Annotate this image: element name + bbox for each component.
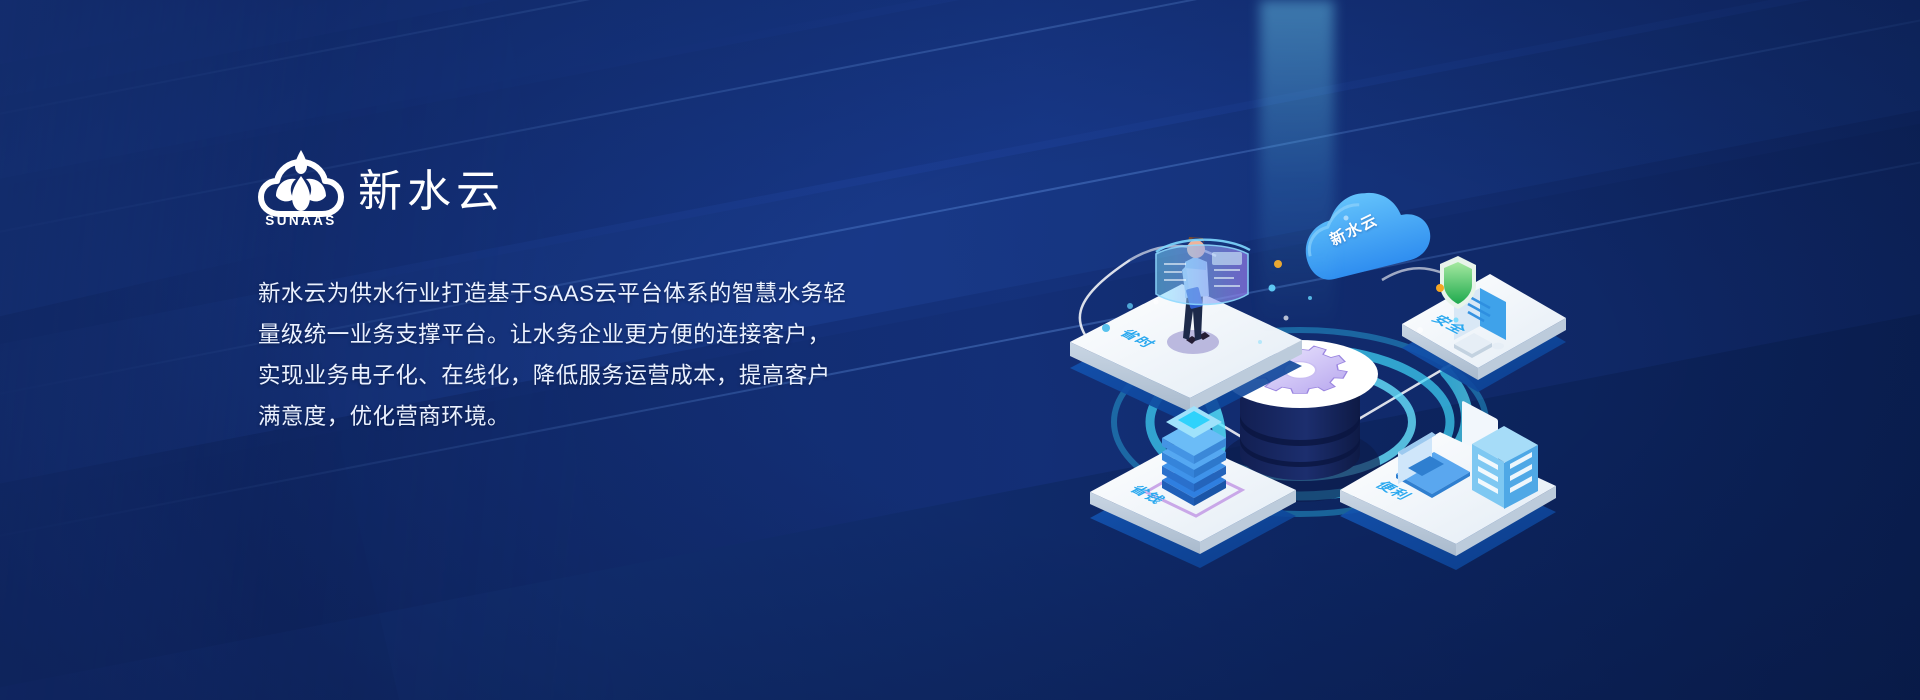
- description-line-3: 实现业务电子化、在线化，降低服务运营成本，提高客户: [258, 355, 818, 396]
- light-beam: [1260, 0, 1334, 330]
- stacked-server-icon: [1162, 406, 1226, 506]
- description-line-1: 新水云为供水行业打造基于SAAS云平台体系的智慧水务轻: [258, 273, 818, 314]
- platform-bottom-right: [1340, 426, 1556, 570]
- brand-name-en: SUNAAS: [258, 213, 344, 228]
- hologram-screen: [1156, 240, 1250, 305]
- hero-description: 新水云为供水行业打造基于SAAS云平台体系的智慧水务轻 量级统一业务支撑平台。让…: [258, 273, 818, 437]
- brand-name-cn: 新水云: [358, 170, 505, 226]
- hero-banner: SUNAAS 新水云 新水云为供水行业打造基于SAAS云平台体系的智慧水务轻 量…: [0, 0, 1920, 700]
- brand-logo: SUNAAS 新水云: [258, 150, 818, 226]
- description-line-2: 量级统一业务支撑平台。让水务企业更方便的连接客户，: [258, 314, 818, 355]
- description-line-4: 满意度，优化营商环境。: [258, 396, 818, 437]
- water-drop-cloud-logo-icon: SUNAAS: [258, 150, 344, 226]
- hero-copy: SUNAAS 新水云 新水云为供水行业打造基于SAAS云平台体系的智慧水务轻 量…: [258, 150, 818, 437]
- isometric-illustration: 省时 安全 省钱 便利 新水云: [1010, 92, 1570, 562]
